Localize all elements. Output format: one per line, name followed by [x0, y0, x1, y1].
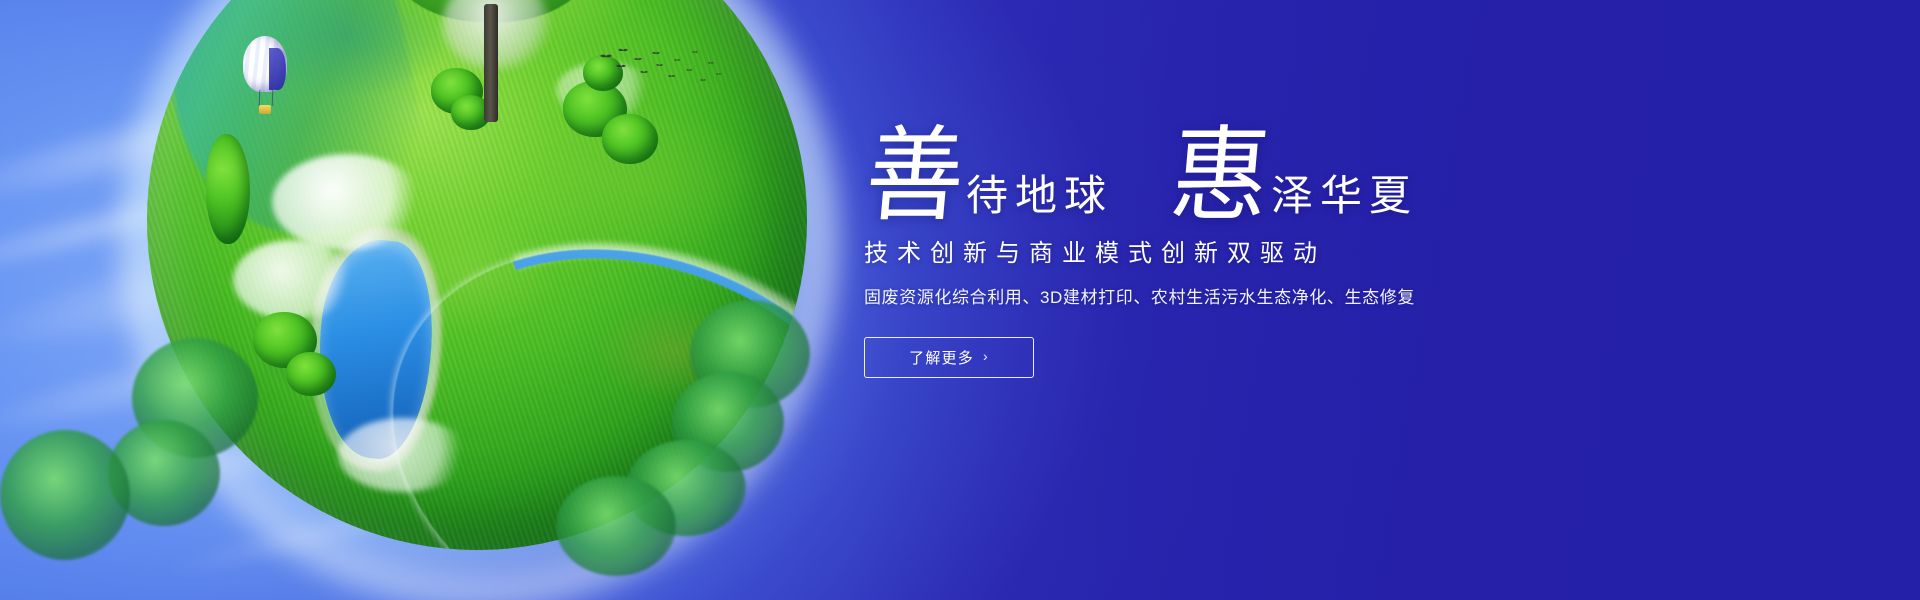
banner-description: 固废资源化综合利用、3D建材打印、农村生活污水生态净化、生态修复 [864, 285, 1862, 311]
balloon-envelope [243, 36, 287, 92]
learn-more-label: 了解更多 [909, 347, 974, 368]
banner-content: 善 待地球 惠 泽华夏 技术创新与商业模式创新双驱动 固废资源化综合利用、3D建… [862, 128, 1862, 378]
headline-phrase-2: 惠 泽华夏 [1167, 138, 1418, 224]
banner-subtitle: 技术创新与商业模式创新双驱动 [864, 238, 1862, 269]
surface-cloud [233, 240, 353, 320]
tree-cluster [451, 95, 491, 130]
hot-air-balloon-icon [243, 36, 291, 120]
learn-more-button[interactable]: 了解更多 › [864, 337, 1034, 378]
tree-cluster [286, 352, 336, 396]
hero-banner: 善 待地球 惠 泽华夏 技术创新与商业模式创新双驱动 固废资源化综合利用、3D建… [0, 0, 1920, 600]
bird-flock-icon [596, 46, 726, 92]
balloon-ropes [259, 90, 274, 106]
headline-lead-glyph-2: 惠 [1167, 129, 1273, 224]
surface-cloud [338, 418, 468, 492]
surface-cloud [272, 154, 422, 250]
balloon-basket [259, 105, 271, 114]
headline-lead-glyph-1: 善 [862, 129, 968, 224]
chevron-right-icon: › [983, 349, 989, 363]
page-title: 善 待地球 惠 泽华夏 [862, 128, 1862, 224]
headline-rest-glyphs-2: 泽华夏 [1271, 176, 1418, 224]
headline-rest-glyphs-1: 待地球 [966, 176, 1113, 224]
headline-phrase-1: 善 待地球 [862, 138, 1113, 224]
